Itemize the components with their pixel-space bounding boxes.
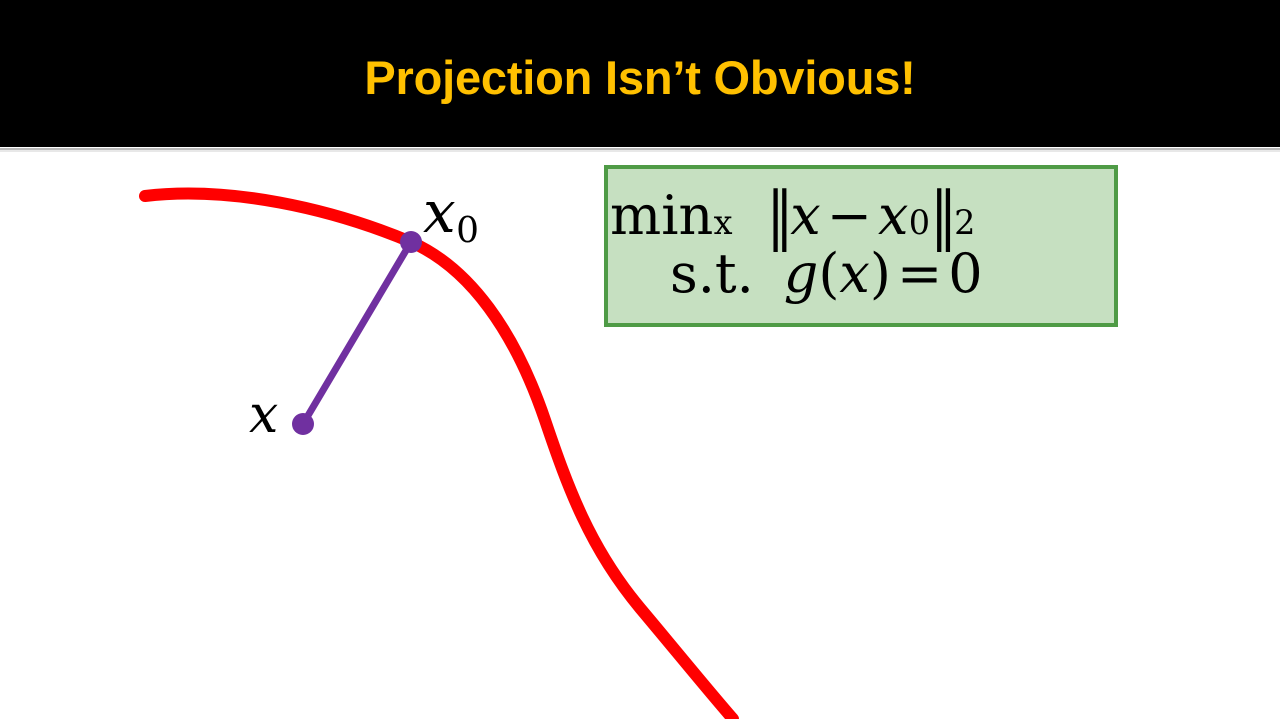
formula-min-subscript: x — [714, 206, 733, 241]
formula-norm-open: ‖ — [766, 183, 790, 249]
formula-function-g: g — [784, 246, 819, 302]
formula-norm-x0-subscript: 0 — [909, 206, 930, 241]
formula-paren-open: ( — [818, 246, 839, 302]
formula-norm-order: 2 — [954, 206, 975, 241]
formula-zero-value: 0 — [948, 246, 982, 302]
formula-equals-sign: = — [897, 246, 942, 302]
formula-min-operator: min — [610, 188, 713, 244]
label-x0-base: x — [423, 178, 456, 246]
formula-norm-x0-base: x — [878, 188, 908, 244]
label-x0-subscript: 0 — [456, 210, 479, 251]
formula-argument-x: x — [839, 246, 869, 302]
formula-box: minx ‖ x − x0 ‖2 s.t. g ( x ) = 0 — [604, 165, 1118, 327]
point-x0-icon — [400, 231, 422, 253]
label-x-base: x — [249, 385, 278, 445]
formula-norm-x: x — [790, 188, 820, 244]
formula-norm-close: ‖ — [930, 183, 954, 249]
label-x: x — [249, 389, 278, 441]
formula-objective-line: minx ‖ x − x0 ‖2 — [608, 188, 1114, 244]
projection-segment-icon — [303, 242, 411, 424]
formula-paren-close: ) — [870, 246, 891, 302]
formula-constraint-line: s.t. g ( x ) = 0 — [608, 246, 1114, 302]
page-title: Projection Isn’t Obvious! — [0, 0, 1280, 147]
point-x-icon — [292, 413, 314, 435]
slide-canvas: Projection Isn’t Obvious! x0 x minx ‖ x — [0, 0, 1280, 719]
label-x0: x0 — [423, 183, 479, 249]
formula-minus-sign: − — [827, 188, 872, 244]
formula-subject-to: s.t. — [670, 246, 754, 302]
